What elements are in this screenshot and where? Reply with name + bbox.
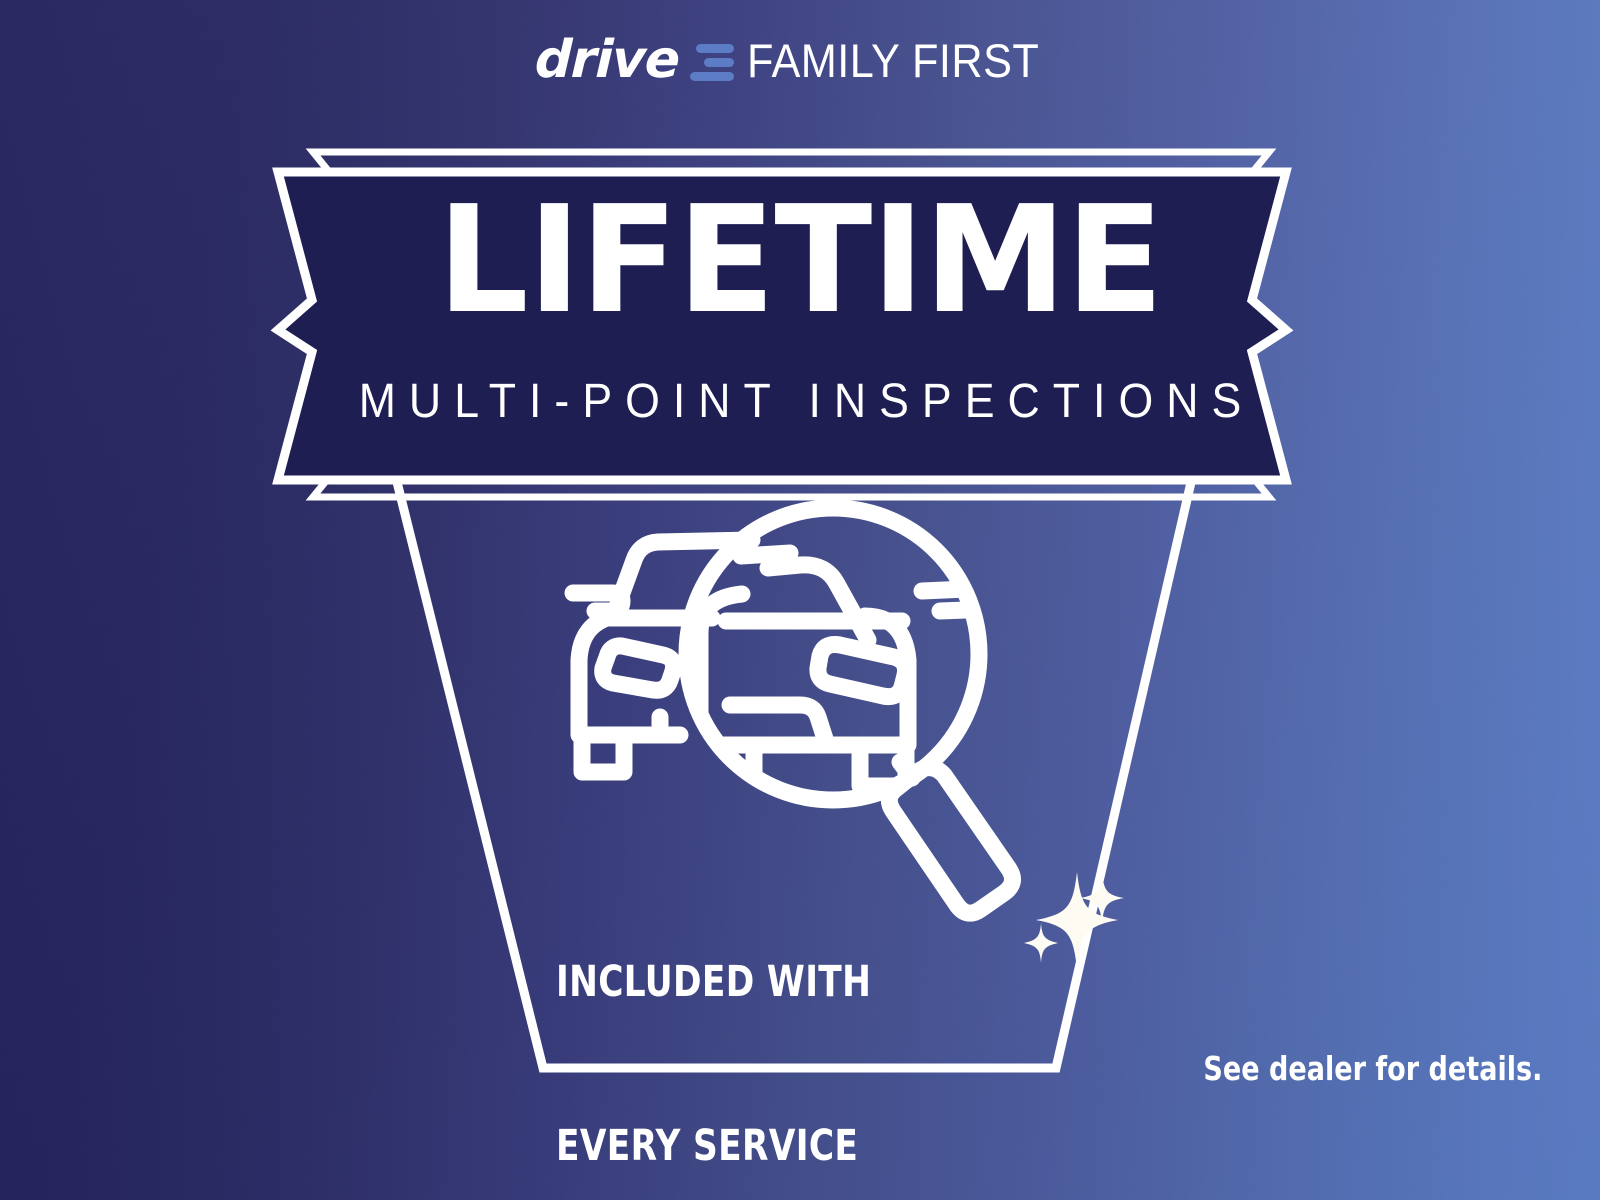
banner-subtitle: MULTI-POINT INSPECTIONS (56, 378, 1544, 426)
promo-canvas: drive FAMILY FIRST (0, 0, 1600, 1200)
disclaimer-text: See dealer for details. (1203, 1052, 1542, 1085)
three-bars-icon (690, 44, 734, 81)
brand-tagline: FAMILY FIRST (747, 37, 1039, 84)
included-line-2: EVERY SERVICE (556, 1119, 871, 1174)
brand-logo: drive FAMILY FIRST (0, 34, 1600, 86)
banner-title: LIFETIME (24, 186, 1576, 334)
sparkle-stars-icon (1024, 872, 1124, 968)
brand-wordmark: drive (534, 34, 680, 86)
included-text: INCLUDED WITH EVERY SERVICE (556, 846, 871, 1200)
included-line-1: INCLUDED WITH (556, 955, 871, 1010)
